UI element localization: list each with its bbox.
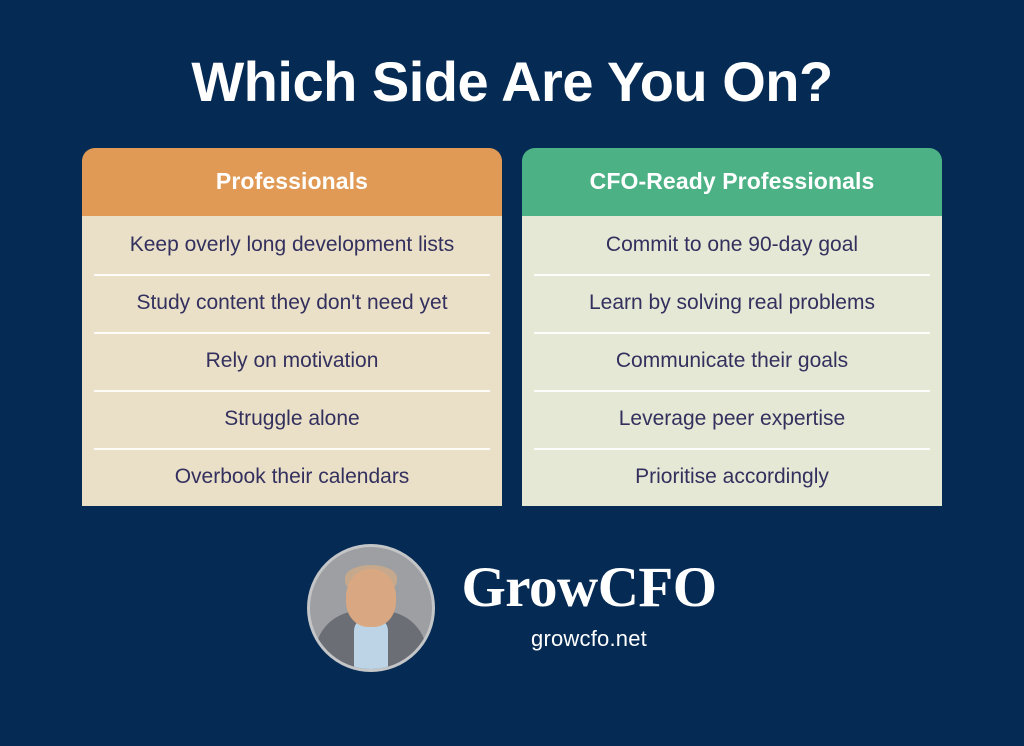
list-item: Leverage peer expertise [522, 390, 942, 448]
list-item: Commit to one 90-day goal [522, 216, 942, 274]
avatar [307, 544, 435, 672]
comparison-columns: Professionals Keep overly long developme… [82, 148, 942, 506]
website-url: growcfo.net [531, 626, 647, 652]
column-header-cfo-ready-professionals: CFO-Ready Professionals [522, 148, 942, 216]
list-item: Communicate their goals [522, 332, 942, 390]
list-item: Rely on motivation [82, 332, 502, 390]
infographic-canvas: Which Side Are You On? Professionals Kee… [0, 0, 1024, 746]
page-title: Which Side Are You On? [191, 53, 832, 112]
column-body-professionals: Keep overly long development lists Study… [82, 216, 502, 506]
list-item: Learn by solving real problems [522, 274, 942, 332]
brand-text-block: GrowCFO growcfo.net [461, 559, 716, 656]
growcfo-logo-wordmark: GrowCFO [461, 559, 716, 616]
list-item: Keep overly long development lists [82, 216, 502, 274]
list-item: Overbook their calendars [82, 448, 502, 506]
column-body-cfo-ready-professionals: Commit to one 90-day goal Learn by solvi… [522, 216, 942, 506]
column-header-professionals: Professionals [82, 148, 502, 216]
list-item: Prioritise accordingly [522, 448, 942, 506]
list-item: Struggle alone [82, 390, 502, 448]
column-card-cfo-ready-professionals: CFO-Ready Professionals Commit to one 90… [522, 148, 942, 506]
brand-footer: GrowCFO growcfo.net [307, 544, 716, 672]
column-card-professionals: Professionals Keep overly long developme… [82, 148, 502, 506]
list-item: Study content they don't need yet [82, 274, 502, 332]
avatar-head [346, 569, 396, 627]
